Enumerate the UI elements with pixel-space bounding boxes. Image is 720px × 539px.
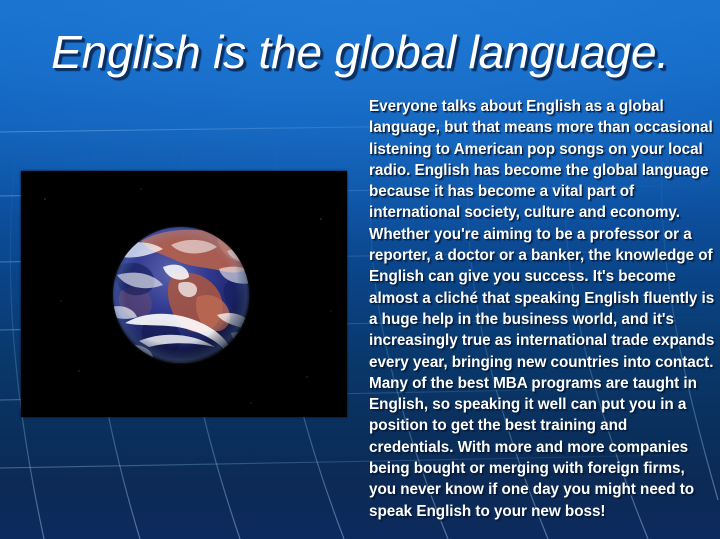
earth-photo-frame — [21, 171, 347, 417]
presentation-slide: English is the global language. — [0, 0, 720, 539]
earth-from-space-icon — [21, 171, 347, 417]
page-title: English is the global language. — [0, 25, 720, 79]
slide-body-paragraph: Everyone talks about English as a global… — [369, 96, 715, 522]
